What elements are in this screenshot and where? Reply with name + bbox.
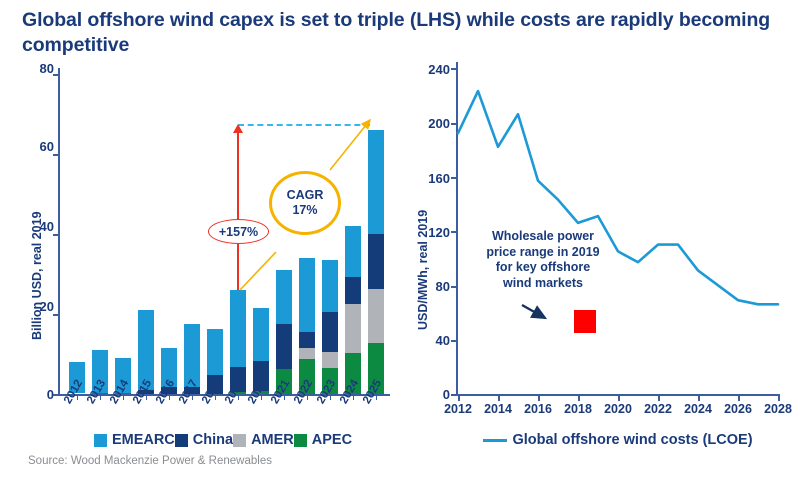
- cagr-callout-badge: CAGR 17%: [269, 171, 341, 235]
- right-x-tickmark: [538, 395, 540, 401]
- bar-seg-china: [345, 277, 361, 304]
- right-x-tick-2028: 2028: [758, 402, 798, 416]
- bar-seg-emearc: [207, 329, 223, 375]
- right-y-tickmark-80: [451, 286, 457, 288]
- cagr-value: 17%: [292, 203, 317, 218]
- right-x-tickmark: [498, 395, 500, 401]
- legend-label-emearc: EMEARC: [112, 432, 175, 448]
- bar-seg-emearc: [253, 308, 269, 361]
- right-x-tickmark: [778, 395, 780, 401]
- left-y-tick-40: 40: [18, 219, 54, 234]
- right-x-tickmark: [458, 395, 460, 401]
- bar-seg-emearc: [368, 130, 384, 234]
- legend-swatch-amer: [233, 434, 246, 447]
- right-y-tickmark-0: [451, 394, 457, 396]
- legend-swatch-apec: [294, 434, 307, 447]
- bar-2025[interactable]: [368, 130, 384, 394]
- right-y-tick-160: 160: [410, 171, 450, 186]
- legend-swatch-china: [175, 434, 188, 447]
- right-x-tick-2022: 2022: [638, 402, 678, 416]
- bar-seg-amer: [368, 289, 384, 343]
- right-y-tickmark-240: [451, 68, 457, 70]
- growth-arrow-head-icon: [233, 124, 243, 133]
- annotation-line-3: for key offshore: [468, 260, 618, 276]
- bar-seg-amer: [322, 352, 338, 368]
- slide-root: Global offshore wind capex is set to tri…: [0, 0, 800, 480]
- right-y-tickmark-160: [451, 177, 457, 179]
- right-x-tick-2024: 2024: [678, 402, 718, 416]
- legend-item-apec[interactable]: APEC: [294, 432, 352, 448]
- legend-item-lcoe[interactable]: Global offshore wind costs (LCOE): [483, 432, 752, 448]
- annotation-line-2: price range in 2019: [468, 245, 618, 261]
- right-y-tickmark-40: [451, 340, 457, 342]
- legend-item-amer[interactable]: AMER: [233, 432, 294, 448]
- growth-percentage-badge: +157%: [208, 219, 269, 244]
- right-y-tick-80: 80: [410, 279, 450, 294]
- bar-seg-china: [322, 312, 338, 352]
- legend-item-china[interactable]: China: [175, 432, 233, 448]
- left-y-tick-80: 80: [18, 61, 54, 76]
- wholesale-price-range-marker: [574, 310, 596, 333]
- right-chart: USD/MWh, real 2019 0 40 80 120 160 200 2…: [400, 0, 800, 480]
- annotation-line-4: wind markets: [468, 276, 618, 292]
- left-y-tick-60: 60: [18, 139, 54, 154]
- left-y-tick-20: 20: [18, 299, 54, 314]
- left-chart: Billion USD, real 2019 0 20 40 60 80: [0, 0, 400, 480]
- right-x-tick-2018: 2018: [558, 402, 598, 416]
- left-y-tick-0: 0: [24, 387, 54, 402]
- wholesale-price-annotation: Wholesale power price range in 2019 for …: [468, 229, 618, 292]
- right-x-tickmark: [658, 395, 660, 401]
- bar-seg-china: [368, 234, 384, 289]
- right-x-tick-2014: 2014: [478, 402, 518, 416]
- growth-arrow-stem: [237, 131, 239, 290]
- bar-seg-emearc: [345, 226, 361, 277]
- cagr-label: CAGR: [287, 188, 324, 203]
- bar-seg-emearc: [230, 290, 246, 367]
- bar-seg-china: [299, 332, 315, 348]
- right-y-tickmark-120: [451, 231, 457, 233]
- legend-swatch-emearc: [94, 434, 107, 447]
- right-x-tick-2012: 2012: [438, 402, 478, 416]
- right-y-tick-0: 0: [410, 387, 450, 402]
- legend-line-lcoe: [483, 439, 507, 442]
- right-chart-y-axis: [456, 62, 458, 395]
- legend-label-apec: APEC: [312, 432, 352, 448]
- left-y-tickmark-0: [53, 394, 59, 396]
- bar-seg-emearc: [322, 260, 338, 312]
- bar-seg-china: [276, 324, 292, 369]
- right-x-tick-2020: 2020: [598, 402, 638, 416]
- legend-label-lcoe: Global offshore wind costs (LCOE): [512, 432, 752, 448]
- bar-seg-emearc: [184, 324, 200, 386]
- bar-2021[interactable]: [276, 270, 292, 394]
- right-y-tickmark-200: [451, 123, 457, 125]
- legend-item-emearc[interactable]: EMEARC: [94, 432, 175, 448]
- bar-seg-emearc: [299, 258, 315, 332]
- bar-2023[interactable]: [322, 260, 338, 394]
- right-y-tick-40: 40: [410, 333, 450, 348]
- right-x-tick-2026: 2026: [718, 402, 758, 416]
- right-y-tick-200: 200: [410, 116, 450, 131]
- bar-seg-amer: [345, 304, 361, 353]
- bar-seg-amer: [299, 348, 315, 359]
- right-y-tick-120: 120: [410, 225, 450, 240]
- bar-2024[interactable]: [345, 226, 361, 394]
- source-note: Source: Wood Mackenzie Power & Renewable…: [28, 455, 272, 467]
- right-x-tickmark: [578, 395, 580, 401]
- left-chart-legend: EMEARC China AMER APEC: [58, 430, 388, 450]
- right-x-tickmark: [698, 395, 700, 401]
- bar-2022[interactable]: [299, 258, 315, 394]
- right-x-tick-2016: 2016: [518, 402, 558, 416]
- legend-label-china: China: [193, 432, 233, 448]
- right-chart-legend: Global offshore wind costs (LCOE): [456, 430, 780, 450]
- legend-label-amer: AMER: [251, 432, 294, 448]
- bar-seg-emearc: [276, 270, 292, 324]
- right-x-tickmark: [738, 395, 740, 401]
- target-level-dashed-line: [238, 124, 370, 126]
- right-y-tick-240: 240: [410, 62, 450, 77]
- annotation-line-1: Wholesale power: [468, 229, 618, 245]
- right-x-tickmark: [618, 395, 620, 401]
